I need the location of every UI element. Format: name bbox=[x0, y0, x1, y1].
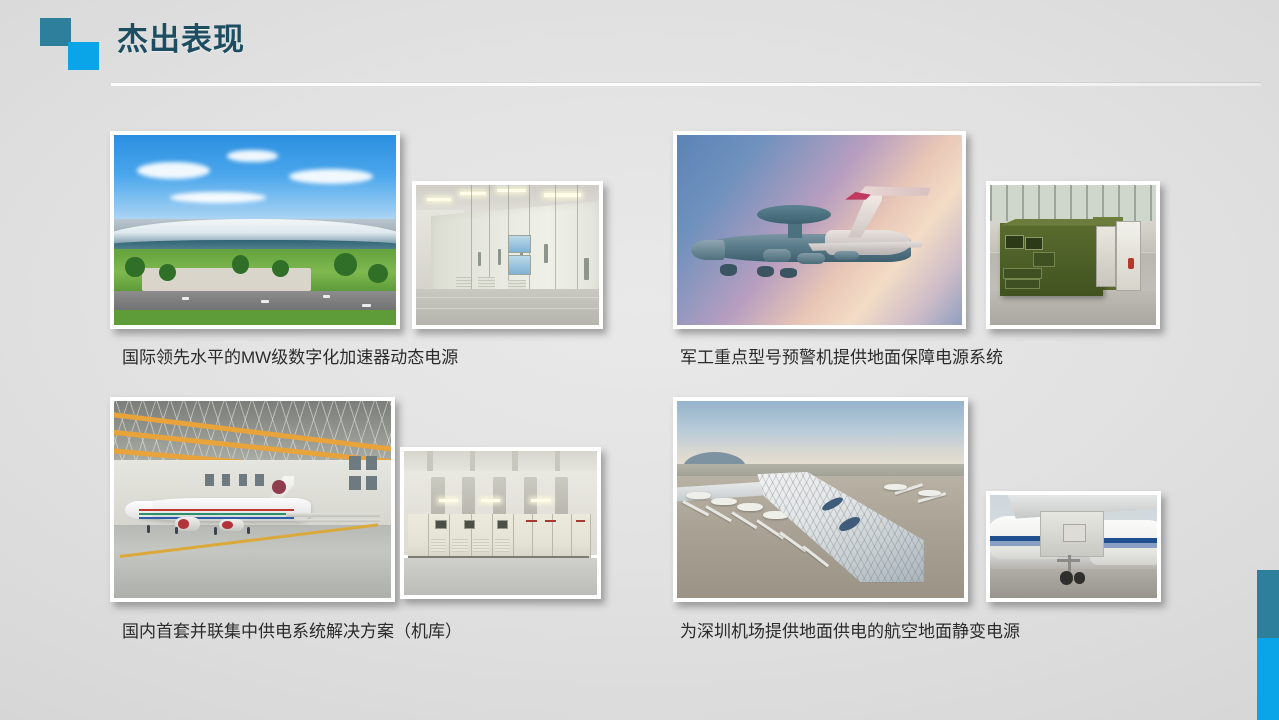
ground-region bbox=[990, 291, 1156, 325]
decoration-square-dark bbox=[40, 18, 71, 46]
gear-cross-member bbox=[1057, 559, 1080, 562]
aircraft-landing-gear bbox=[720, 264, 737, 275]
aircraft-landing-gear bbox=[780, 268, 797, 278]
worker-figure bbox=[247, 527, 250, 534]
worker-figure bbox=[214, 527, 217, 535]
edge-accent-bottom bbox=[1257, 638, 1279, 720]
livery-stripe-light bbox=[990, 541, 1043, 546]
photo-canvas bbox=[990, 495, 1157, 598]
cloud-shape bbox=[227, 150, 278, 161]
floor-region bbox=[416, 289, 599, 325]
sky-gradient bbox=[677, 135, 962, 325]
cabinet-display-panel bbox=[508, 235, 532, 252]
caption-shenzhen-airport: 为深圳机场提供地面供电的航空地面静变电源 bbox=[680, 621, 1020, 643]
foreground-lawn bbox=[114, 310, 396, 325]
nose-wheel bbox=[1074, 572, 1086, 583]
ceiling-beam bbox=[427, 451, 433, 471]
engine-inlet-cover bbox=[178, 519, 189, 529]
photo-shenzhen-airport-terminal bbox=[673, 397, 968, 602]
wall-window bbox=[239, 474, 247, 486]
building-glass-facade bbox=[990, 185, 1156, 224]
tarmac-ground bbox=[990, 569, 1157, 598]
car-shape bbox=[362, 304, 371, 307]
overhead-duct bbox=[555, 477, 569, 514]
ceiling-beam bbox=[470, 451, 476, 471]
photo-canvas bbox=[990, 185, 1156, 325]
parked-aircraft bbox=[884, 484, 907, 490]
service-access-door bbox=[1063, 524, 1085, 542]
floor-region bbox=[404, 558, 597, 595]
worker-figure bbox=[175, 527, 178, 534]
livery-stripe-light bbox=[1100, 543, 1157, 548]
shelter-interior-cabinet bbox=[1096, 226, 1116, 288]
wall-window bbox=[349, 476, 360, 490]
car-shape bbox=[182, 297, 189, 300]
caption-accelerator: 国际领先水平的MW级数字化加速器动态电源 bbox=[122, 347, 458, 369]
edge-accent-bar bbox=[1257, 570, 1279, 720]
photo-canvas bbox=[416, 185, 599, 325]
cabinet-handle bbox=[544, 244, 548, 264]
photo-green-power-shelter bbox=[986, 181, 1160, 329]
car-shape bbox=[323, 295, 330, 298]
wall-window bbox=[205, 474, 213, 486]
worker-figure bbox=[147, 525, 150, 533]
cabinet-vent bbox=[452, 539, 467, 552]
wall-window bbox=[255, 474, 263, 486]
ceiling-region bbox=[404, 451, 597, 471]
caption-hangar: 国内首套并联集中供电系统解决方案（机库） bbox=[122, 621, 462, 643]
wall-window bbox=[222, 474, 230, 486]
cabinet-handle bbox=[584, 258, 589, 280]
ceiling-lamp bbox=[544, 193, 581, 197]
photo-canvas bbox=[677, 135, 962, 325]
page-title: 杰出表现 bbox=[117, 18, 245, 62]
cloud-shape bbox=[137, 162, 210, 179]
parked-aircraft bbox=[711, 498, 737, 506]
photo-canvas bbox=[677, 401, 964, 598]
overhead-duct bbox=[524, 477, 538, 514]
parked-aircraft bbox=[918, 490, 941, 496]
shelter-roof bbox=[1000, 219, 1120, 226]
caption-awacs: 军工重点型号预警机提供地面保障电源系统 bbox=[680, 347, 1003, 369]
aircraft-engine bbox=[834, 251, 860, 261]
cabinet-vent bbox=[473, 539, 488, 552]
ceiling-beam bbox=[512, 451, 518, 471]
cabinet-meter bbox=[497, 520, 509, 529]
ceiling-lamp bbox=[481, 499, 500, 502]
ceiling-lamp bbox=[497, 189, 526, 192]
cabinet-meter bbox=[464, 520, 476, 529]
cabinet-handle bbox=[498, 249, 501, 264]
maintenance-platform bbox=[297, 519, 380, 522]
overhead-duct bbox=[462, 477, 476, 514]
aircraft-engine bbox=[763, 249, 792, 262]
cabinet-display-panel bbox=[508, 255, 532, 275]
shelter-connector-strip bbox=[1005, 279, 1040, 289]
shelter-access-panel bbox=[1033, 252, 1055, 267]
photo-white-power-cabinets bbox=[412, 181, 603, 329]
fire-extinguisher bbox=[1128, 258, 1135, 269]
livery-stripe-blue bbox=[139, 517, 294, 519]
floor-tile-line bbox=[416, 297, 599, 298]
overhead-duct bbox=[493, 477, 507, 514]
aircraft-engine bbox=[797, 253, 826, 264]
cabinet-handle bbox=[478, 252, 481, 266]
hangar-floor bbox=[114, 525, 391, 598]
car-shape bbox=[261, 300, 269, 303]
decoration-square-bright bbox=[68, 42, 99, 70]
photo-canvas bbox=[404, 451, 597, 595]
airline-tail-logo bbox=[272, 480, 286, 494]
cabinet-branding bbox=[576, 520, 586, 522]
cabinet-vent bbox=[431, 539, 446, 552]
photo-aircraft-ground-power-connection bbox=[986, 491, 1161, 602]
ceiling-lamp bbox=[439, 499, 458, 502]
power-cabinet bbox=[408, 514, 429, 557]
cabinet-meter bbox=[435, 520, 447, 529]
shelter-open-door bbox=[1116, 221, 1141, 291]
tree-shape bbox=[368, 264, 388, 283]
wall-window bbox=[366, 476, 377, 490]
cabinet-branding bbox=[545, 520, 557, 522]
edge-accent-top bbox=[1257, 570, 1279, 638]
overhead-duct bbox=[431, 477, 445, 514]
shelter-label-plate bbox=[1005, 235, 1024, 248]
cabinet-branding bbox=[526, 520, 538, 522]
livery-stripe-green bbox=[139, 513, 294, 515]
ceiling-lamp bbox=[531, 499, 550, 502]
ceiling-lamp bbox=[427, 198, 451, 201]
photo-hangar-interior bbox=[110, 397, 395, 602]
photo-beige-power-cabinets bbox=[400, 447, 601, 599]
tree-shape bbox=[334, 253, 357, 276]
photo-canvas bbox=[114, 401, 391, 598]
maintenance-platform bbox=[286, 513, 380, 517]
livery-stripe-red bbox=[139, 509, 294, 511]
shelter-connector-strip bbox=[1003, 268, 1042, 280]
photo-awacs-aircraft bbox=[673, 131, 966, 329]
cabinet-vent bbox=[495, 539, 510, 552]
title-divider bbox=[111, 82, 1261, 86]
ceiling-lamp bbox=[460, 192, 486, 195]
road-region bbox=[114, 291, 396, 312]
floor-tile-line bbox=[416, 308, 599, 309]
ceiling-beam bbox=[555, 451, 561, 471]
tree-shape bbox=[232, 255, 249, 274]
aircraft-landing-gear bbox=[757, 266, 774, 277]
photo-accelerator-facility bbox=[110, 131, 400, 329]
aircraft-nose bbox=[691, 240, 725, 261]
wall-window bbox=[349, 456, 360, 470]
photo-canvas bbox=[114, 135, 396, 325]
nose-wheel bbox=[1060, 571, 1073, 584]
wall-window bbox=[366, 456, 377, 470]
slide-canvas: 杰出表现 bbox=[0, 0, 1279, 720]
shelter-label-plate bbox=[1025, 237, 1044, 250]
title-decoration bbox=[40, 18, 102, 66]
